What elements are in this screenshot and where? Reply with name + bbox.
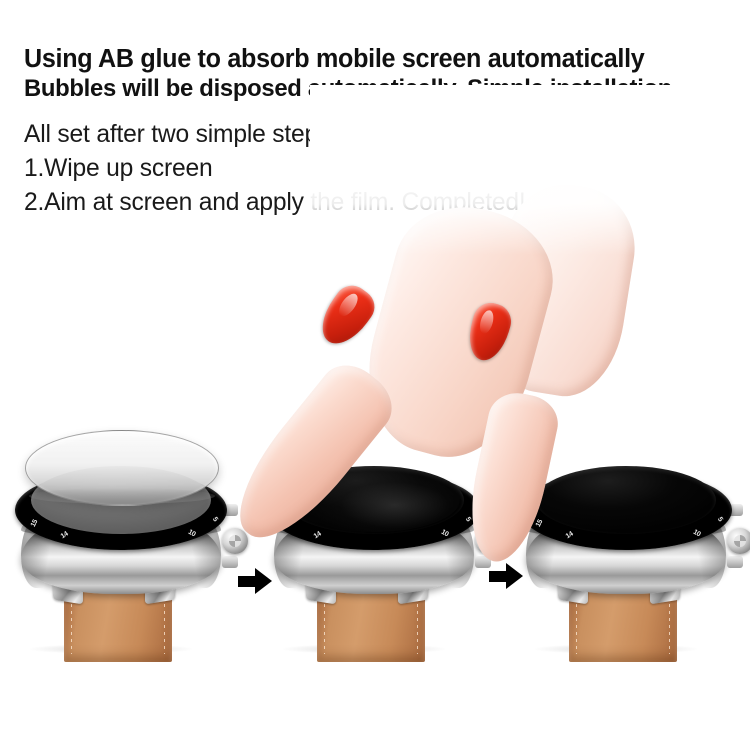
arrow-right-icon-2 [489, 563, 523, 589]
smartwatch-1: 15 14 10 5 [9, 436, 234, 651]
watch-dial [536, 466, 716, 534]
watch-steps-scene: 15 14 10 5 [0, 400, 750, 670]
watch-crown [222, 528, 248, 554]
thumb-fingernail [463, 299, 516, 365]
screen-protector-film [25, 430, 219, 506]
arrow-head [506, 563, 523, 589]
watch-crown [727, 528, 750, 554]
headline-secondary: Bubbles will be disposed automatically, … [24, 74, 723, 104]
intro-line: All set after two simple steps [24, 117, 723, 151]
smartwatch-2: 15 14 10 5 [262, 436, 487, 651]
arrow-head [255, 568, 272, 594]
film-edge [29, 488, 215, 504]
index-fingernail [312, 279, 382, 353]
arrow-right-icon-1 [238, 568, 272, 594]
film-sheen [288, 468, 460, 532]
product-infographic: Using AB glue to absorb mobile screen au… [0, 0, 750, 750]
step-2-text: 2.Aim at screen and apply the film. Comp… [24, 185, 723, 219]
step-2-panel: 15 14 10 5 [248, 400, 498, 670]
step-1-text: 1.Wipe up screen [24, 151, 723, 185]
headline-primary: Using AB glue to absorb mobile screen au… [24, 44, 723, 74]
smartwatch-3: 15 14 10 5 [514, 436, 739, 651]
step-1-panel: 15 14 10 5 [0, 400, 245, 670]
watch-crown [475, 528, 501, 554]
text-block: Using AB glue to absorb mobile screen au… [24, 44, 734, 219]
pusher-bottom [222, 556, 238, 568]
step-3-panel: 15 14 10 5 [500, 400, 750, 670]
pusher-bottom [727, 556, 743, 568]
